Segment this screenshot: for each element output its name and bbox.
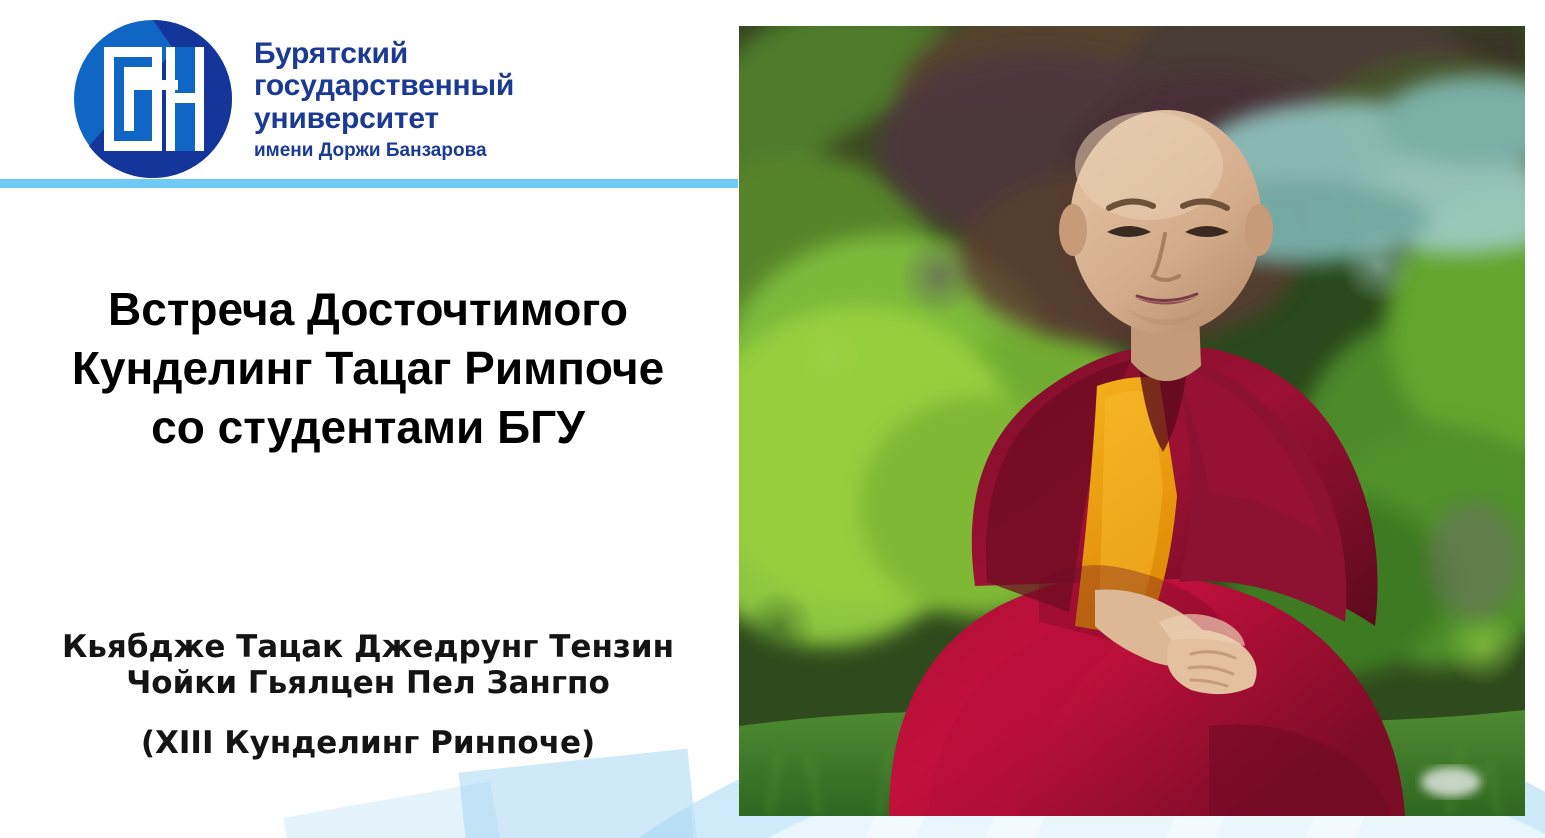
logo-line-3: университет bbox=[254, 103, 514, 135]
decorative-square-left bbox=[283, 781, 526, 838]
slide-title-line-1: Встреча Досточтимого bbox=[10, 280, 726, 339]
bgu-monogram-icon bbox=[74, 20, 232, 178]
person-name: Кьябдже Тацак Джедрунг Тензин Чойки Гьял… bbox=[10, 630, 726, 702]
slide-title-line-3: со студентами БГУ bbox=[10, 398, 726, 457]
university-logo-text: Бурятский государственный университет им… bbox=[254, 20, 514, 162]
decorative-square-center bbox=[459, 749, 712, 838]
header-divider bbox=[0, 179, 738, 188]
logo-line-2: государственный bbox=[254, 70, 514, 102]
logo-subline: имени Доржи Банзарова bbox=[254, 141, 514, 162]
presentation-slide: Бурятский государственный университет им… bbox=[0, 0, 1545, 838]
person-title: (XIII Кунделинг Ринпоче) bbox=[10, 726, 726, 762]
slide-title: Встреча Досточтимого Кунделинг Тацаг Рим… bbox=[10, 280, 726, 457]
portrait-photo bbox=[739, 26, 1525, 816]
person-name-line-2: Чойки Гьялцен Пел Зангпо bbox=[10, 666, 726, 702]
person-name-line-1: Кьябдже Тацак Джедрунг Тензин bbox=[10, 630, 726, 666]
logo-line-1: Бурятский bbox=[254, 38, 514, 70]
slide-attribution: Кьябдже Тацак Джедрунг Тензин Чойки Гьял… bbox=[10, 630, 726, 762]
slide-title-line-2: Кунделинг Тацаг Римпоче bbox=[10, 339, 726, 398]
university-logo: Бурятский государственный университет им… bbox=[74, 20, 514, 178]
